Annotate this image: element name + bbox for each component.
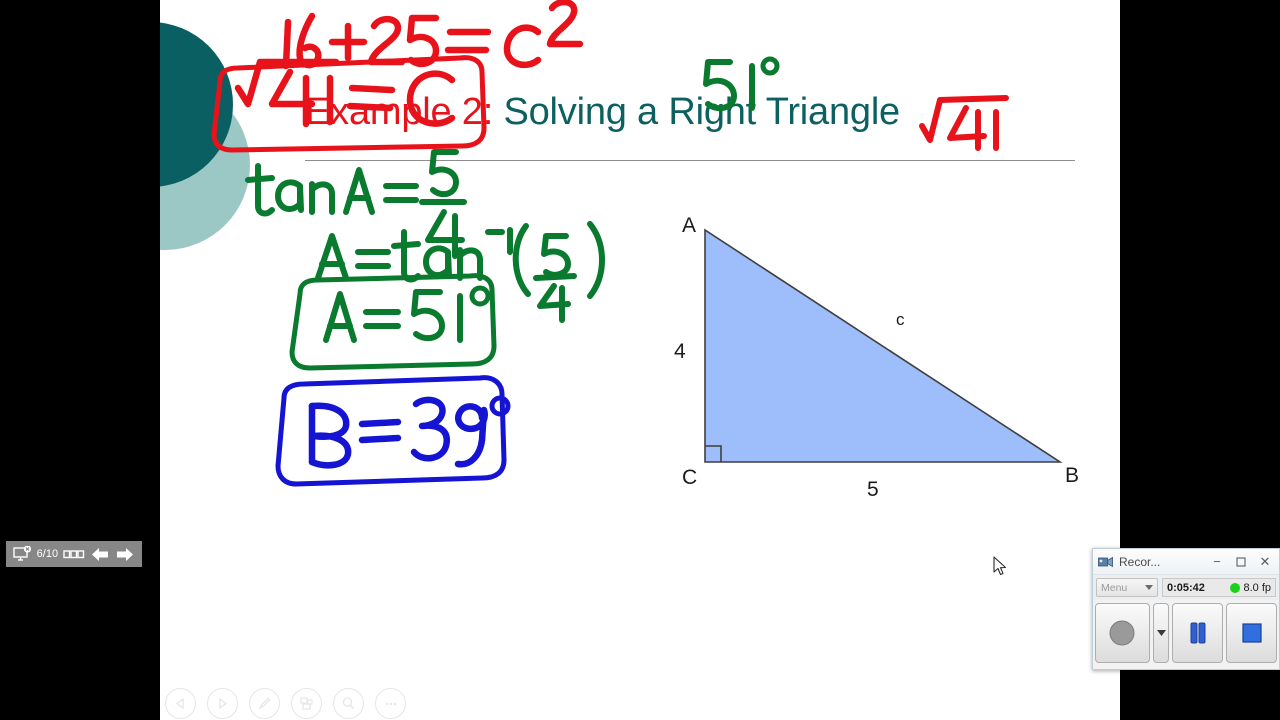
- vertex-label-a: A: [682, 214, 696, 238]
- ink-inverse-tangent: [318, 224, 602, 320]
- screen-recorder-window[interactable]: Recor... − ✕ Menu 0:05:42 8.0 fp: [1092, 548, 1280, 670]
- ink-angle-a-result: [292, 276, 494, 368]
- title-topic-label: Solving a Right Triangle: [493, 91, 900, 133]
- chevron-down-icon: [1157, 630, 1166, 636]
- screen-root: Example 2: Solving a Right Triangle A C …: [0, 0, 1280, 720]
- ink-angle-b-result: [278, 378, 508, 484]
- previous-slide-button[interactable]: [165, 688, 196, 719]
- recorder-statusbar: Menu 0:05:42 8.0 fp: [1093, 575, 1279, 600]
- side-label-horizontal: 5: [867, 478, 879, 502]
- fps-group: 8.0 fp: [1230, 582, 1271, 594]
- recording-timer: 0:05:42: [1167, 582, 1205, 594]
- recorder-titlebar[interactable]: Recor... − ✕: [1093, 549, 1279, 575]
- more-options-button[interactable]: [375, 688, 406, 719]
- slide-overview-button[interactable]: [291, 688, 322, 719]
- triangle-svg: [660, 200, 1120, 520]
- vertex-label-c: C: [682, 466, 697, 490]
- pen-tool-button[interactable]: [249, 688, 280, 719]
- maximize-button[interactable]: [1229, 552, 1253, 572]
- presentation-slide: Example 2: Solving a Right Triangle A C …: [160, 0, 1120, 720]
- close-button[interactable]: ✕: [1253, 552, 1277, 572]
- recorder-title: Recor...: [1119, 555, 1205, 569]
- left-arrow-icon: [90, 547, 110, 562]
- fps-readout: 8.0 fp: [1243, 582, 1271, 594]
- previous-button[interactable]: [90, 547, 110, 562]
- menu-label: Menu: [1101, 582, 1127, 594]
- chevron-down-icon: [1145, 585, 1153, 590]
- stop-button[interactable]: [1226, 603, 1277, 663]
- minimize-button[interactable]: −: [1205, 552, 1229, 572]
- pause-button[interactable]: [1172, 603, 1223, 663]
- next-button[interactable]: [115, 547, 135, 562]
- side-label-hypotenuse: c: [896, 310, 905, 330]
- side-label-vertical: 4: [674, 340, 686, 364]
- monitor-x-icon: [13, 546, 32, 563]
- recorder-readout: 0:05:42 8.0 fp: [1162, 578, 1276, 597]
- slide-grid-button[interactable]: [63, 550, 85, 559]
- slide-counter: 6/10: [37, 548, 58, 560]
- page-title: Example 2: Solving a Right Triangle: [305, 92, 1080, 134]
- camera-icon: [1098, 555, 1114, 569]
- cursor-arrow-icon: [993, 556, 1009, 578]
- stop-icon: [1240, 621, 1264, 645]
- right-arrow-icon: [115, 547, 135, 562]
- mouse-cursor: [993, 556, 1009, 578]
- grid-icon: [299, 696, 314, 711]
- three-squares-icon: [63, 550, 85, 559]
- record-button[interactable]: [1095, 603, 1150, 663]
- ellipsis-icon: [383, 700, 399, 708]
- presenter-toolbar[interactable]: 6/10: [6, 541, 142, 567]
- record-dropdown-button[interactable]: [1153, 603, 1170, 663]
- triangle-shape: [705, 230, 1060, 462]
- zoom-tool-button[interactable]: [333, 688, 364, 719]
- recording-status-indicator: [1230, 583, 1240, 593]
- vertex-label-b: B: [1065, 464, 1079, 488]
- triangle-right-icon: [216, 697, 229, 710]
- slide-playback-controls[interactable]: [165, 688, 406, 719]
- magnifier-icon: [341, 696, 356, 711]
- ink-pythagorean-equation: [286, 2, 580, 66]
- title-divider: [305, 160, 1075, 161]
- pen-icon: [257, 696, 272, 711]
- triangle-left-icon: [174, 697, 187, 710]
- menu-dropdown[interactable]: Menu: [1096, 578, 1158, 597]
- maximize-icon: [1236, 557, 1246, 567]
- recorder-button-row: [1093, 600, 1279, 666]
- title-example-label: Example 2:: [305, 91, 493, 133]
- ink-tangent-setup: [248, 152, 464, 256]
- next-slide-button[interactable]: [207, 688, 238, 719]
- pause-icon: [1187, 620, 1209, 646]
- record-circle-icon: [1107, 618, 1137, 648]
- right-triangle-figure: A C B 4 5 c: [660, 200, 1120, 520]
- blank-screen-button[interactable]: [13, 546, 32, 563]
